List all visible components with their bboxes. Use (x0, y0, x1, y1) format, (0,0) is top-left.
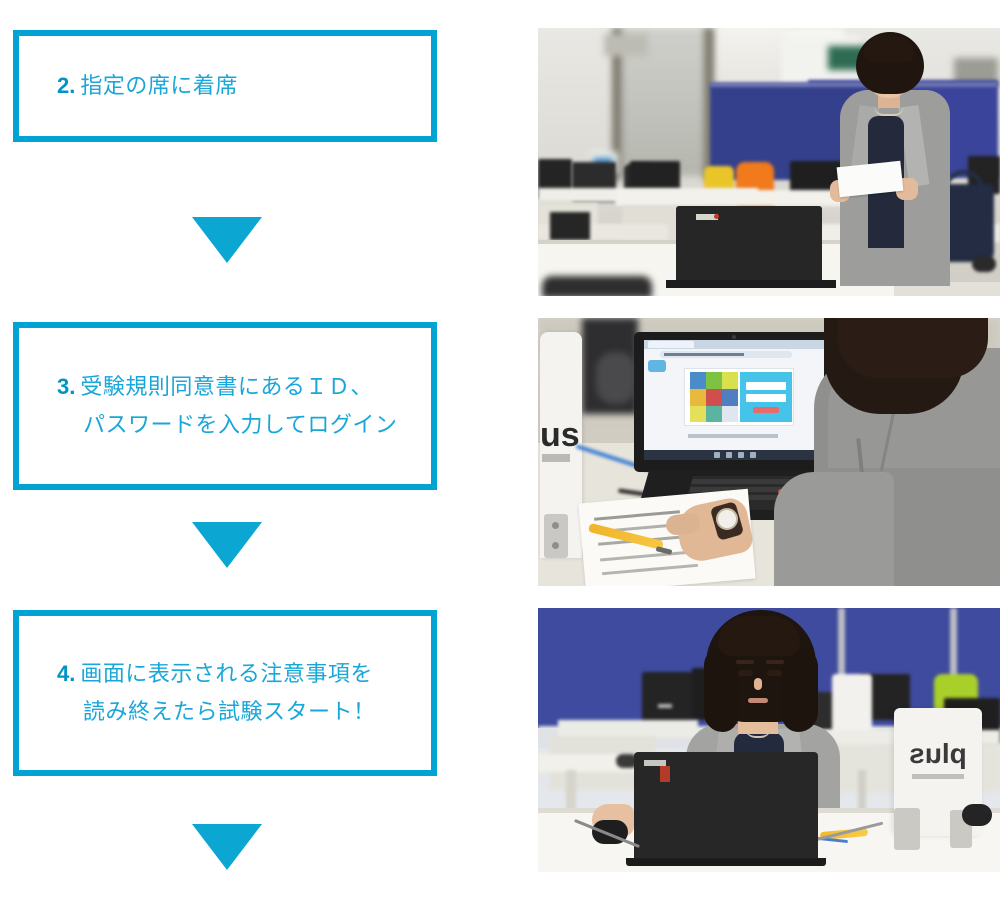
exam-flow-diagram: 2.指定の席に着席 3.受験規則同意書にあるＩＤ、 パスワードを入力してログイン… (0, 0, 1000, 900)
photo-seated-classroom (538, 28, 1000, 296)
arrow-step-4-to-next (192, 824, 262, 870)
step-number-3: 3. (57, 374, 75, 399)
step-text-4: 4.画面に表示される注意事項を 読み終えたら試験スタート！ (19, 657, 386, 729)
step-box-2: 2.指定の席に着席 (13, 30, 437, 142)
step-label-4-line-2: 読み終えたら試験スタート！ (57, 695, 376, 729)
steps-column: 2.指定の席に着席 3.受験規則同意書にあるＩＤ、 パスワードを入力してログイン… (0, 0, 470, 900)
photo-exam-start: plus (538, 608, 1000, 872)
step-box-3: 3.受験規則同意書にあるＩＤ、 パスワードを入力してログイン (13, 322, 437, 490)
arrow-step-3-to-4 (192, 522, 262, 568)
panel-brand-text-photo-3: us (540, 410, 582, 460)
photo-login-laptop: us (538, 318, 1000, 586)
step-label-3-line-1: 受験規則同意書にあるＩＤ、 (80, 374, 373, 399)
step-label-4-line-1: 画面に表示される注意事項を (80, 661, 373, 686)
step-number-4: 4. (57, 661, 75, 686)
step-box-4: 4.画面に表示される注意事項を 読み終えたら試験スタート！ (13, 610, 437, 776)
step-text-2: 2.指定の席に着席 (19, 69, 248, 103)
step-number-2: 2. (57, 73, 75, 98)
photo-exam-start-scene: plus (538, 608, 1000, 872)
photo-seated-classroom-scene (538, 28, 1000, 296)
step-label-3-line-2: パスワードを入力してログイン (57, 408, 397, 442)
arrow-step-2-to-3 (192, 217, 262, 263)
step-text-3: 3.受験規則同意書にあるＩＤ、 パスワードを入力してログイン (19, 370, 407, 442)
photo-login-laptop-scene: us (538, 318, 1000, 586)
step-label-2-line-1: 指定の席に着席 (80, 73, 238, 98)
panel-brand-text-photo-4: plus (894, 734, 982, 774)
